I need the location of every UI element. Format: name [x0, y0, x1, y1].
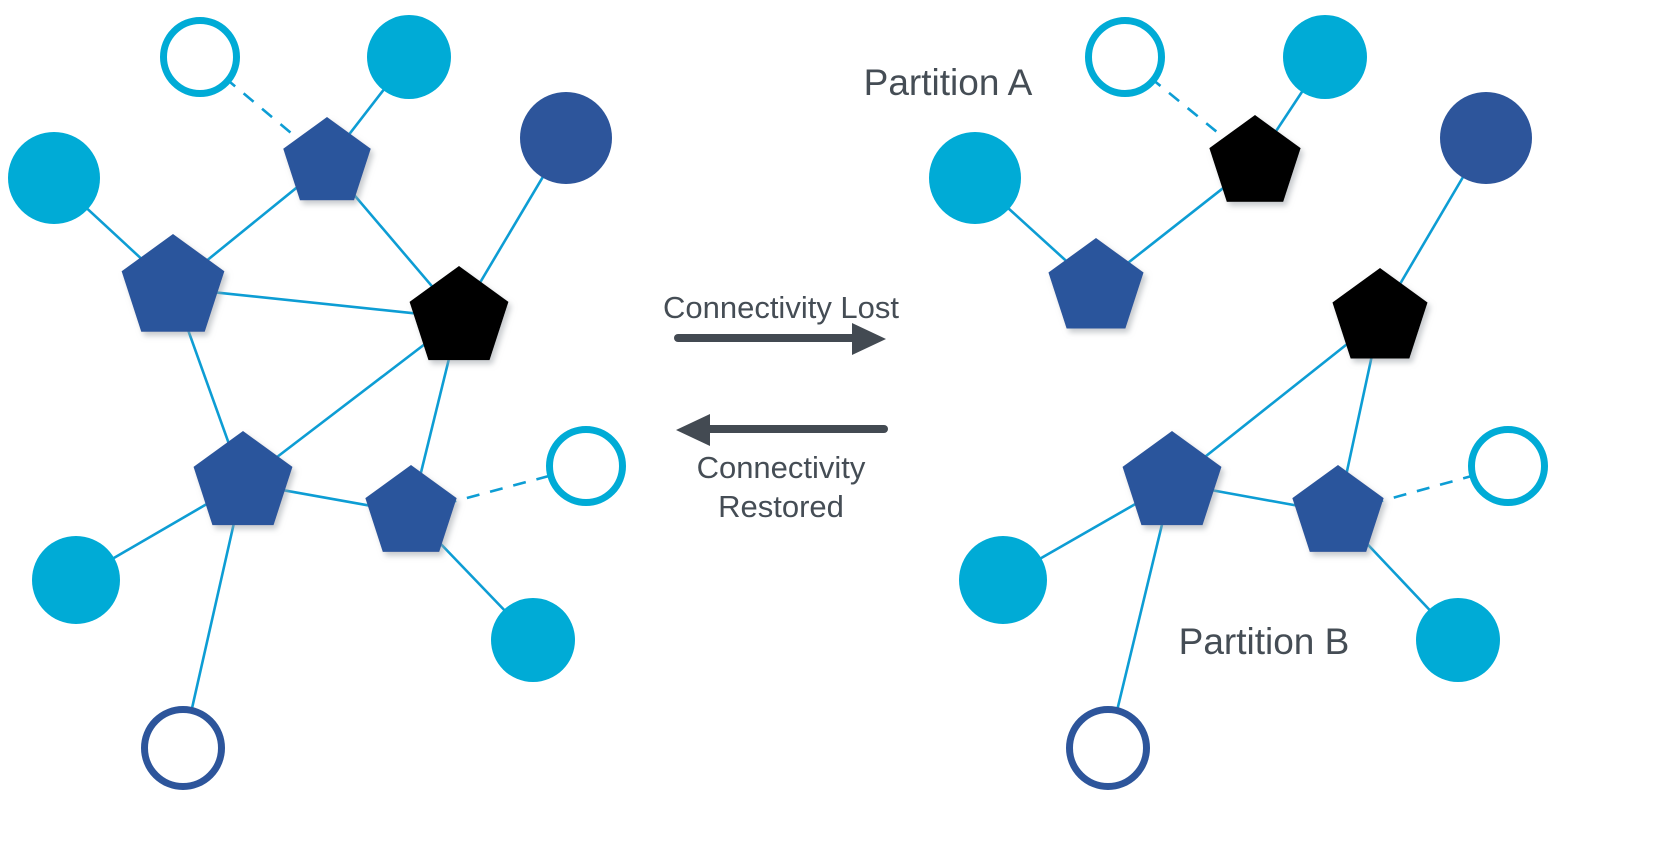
- connectivity-lost-arrow-head: [852, 323, 886, 355]
- node-pentagon-L5[interactable]: [283, 117, 371, 200]
- edge-R9-R12: [1361, 538, 1434, 615]
- node-circle-R13[interactable]: [1070, 710, 1147, 787]
- edge-R1-R5: [1150, 78, 1228, 142]
- node-pentagon-L8[interactable]: [194, 431, 293, 525]
- edge-L8-L13: [191, 519, 235, 715]
- edge-L3-L7: [478, 170, 547, 286]
- node-circle-L3[interactable]: [520, 92, 612, 184]
- partition-b-label: Partition B: [1179, 621, 1350, 662]
- connectivity-restored-arrow-head: [676, 414, 710, 446]
- edge-R9-R10: [1371, 475, 1477, 504]
- node-circle-L10[interactable]: [550, 430, 623, 503]
- node-circle-L12[interactable]: [491, 598, 575, 682]
- node-circle-L13[interactable]: [145, 710, 222, 787]
- node-circle-R10[interactable]: [1472, 430, 1545, 503]
- edge-L6-L8: [186, 324, 231, 449]
- node-pentagon-R6[interactable]: [1048, 238, 1143, 328]
- edge-R7-R9: [1345, 352, 1372, 479]
- edge-R2-R5: [1274, 86, 1306, 135]
- node-pentagon-L6[interactable]: [122, 234, 225, 332]
- node-pentagon-R8[interactable]: [1123, 431, 1222, 525]
- node-circle-L1[interactable]: [164, 21, 237, 94]
- edge-L4-L6: [82, 204, 145, 263]
- node-pentagon-R7[interactable]: [1332, 268, 1427, 358]
- edge-L8-L9: [279, 489, 378, 507]
- left-panel-nodes: [8, 15, 623, 787]
- edge-L7-L9: [419, 354, 450, 481]
- connectivity-lost-label: Connectivity Lost: [663, 290, 899, 325]
- node-circle-L4[interactable]: [8, 132, 100, 224]
- edge-L9-L12: [434, 537, 509, 615]
- edge-L1-L5: [225, 78, 302, 142]
- node-pentagon-R9[interactable]: [1292, 465, 1383, 552]
- node-circle-R11[interactable]: [959, 536, 1047, 624]
- edge-R5-R6: [1124, 184, 1229, 266]
- edge-L7-L8: [272, 340, 430, 460]
- edge-L6-L7: [211, 292, 423, 314]
- edge-R4-R6: [1003, 203, 1070, 264]
- node-circle-R3[interactable]: [1440, 92, 1532, 184]
- node-circle-L2[interactable]: [367, 15, 451, 99]
- node-pentagon-L9[interactable]: [365, 465, 456, 552]
- edge-L2-L5: [347, 84, 388, 137]
- edge-R7-R8: [1201, 340, 1353, 460]
- edge-L5-L7: [348, 188, 435, 290]
- edge-L5-L6: [203, 183, 302, 264]
- node-circle-L11[interactable]: [32, 536, 120, 624]
- transition-arrows: [676, 323, 886, 446]
- connectivity-restored-label-line1: Connectivity: [697, 450, 866, 485]
- edge-R8-R13: [1116, 519, 1163, 715]
- edge-R8-R11: [1034, 501, 1140, 562]
- connectivity-restored-label-line2: Restored: [718, 489, 844, 524]
- node-circle-R12[interactable]: [1416, 598, 1500, 682]
- right-panel-nodes: [929, 15, 1545, 787]
- edge-R8-R9: [1208, 490, 1305, 507]
- node-pentagon-R5[interactable]: [1209, 115, 1300, 202]
- edge-L8-L11: [107, 501, 211, 561]
- diagram-canvas: Connectivity Lost Connectivity Restored …: [0, 0, 1656, 856]
- node-pentagon-L7[interactable]: [410, 266, 509, 360]
- diagram-svg: Connectivity Lost Connectivity Restored …: [0, 0, 1656, 856]
- edge-L9-L10: [444, 475, 555, 505]
- node-circle-R1[interactable]: [1089, 21, 1162, 94]
- edge-R3-R7: [1398, 171, 1467, 288]
- node-circle-R4[interactable]: [929, 132, 1021, 224]
- node-circle-R2[interactable]: [1283, 15, 1367, 99]
- partition-a-label: Partition A: [864, 62, 1033, 103]
